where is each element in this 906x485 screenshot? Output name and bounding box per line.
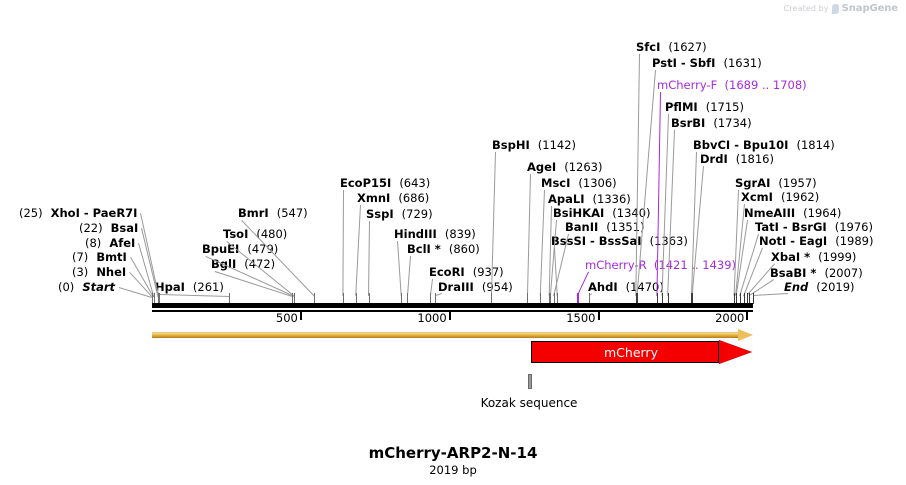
site-label-name: Start <box>82 280 115 294</box>
site-label-name: TsoI <box>223 227 248 241</box>
site-label-name: mCherry-R <box>585 258 647 272</box>
site-label-name: EcoP15I <box>340 176 391 190</box>
site-label-bmri[interactable]: BmrI (547) <box>238 207 308 219</box>
site-label-position: (1351) <box>606 220 644 234</box>
site-label-name: BclI * <box>407 242 441 256</box>
site-label-bmti[interactable]: (7) BmtI <box>72 251 127 263</box>
sequence-length: 2019 bp <box>429 463 477 477</box>
leader-line <box>342 190 344 296</box>
site-label-position: (1340) <box>612 206 650 220</box>
snapgene-brand: SnapGene <box>842 3 898 14</box>
site-label-name: NotI - EagI <box>759 234 827 248</box>
site-label-name: AfeI <box>109 236 135 250</box>
site-label-draiii[interactable]: DraIII (954) <box>438 281 513 293</box>
site-label-tati-bsrgi[interactable]: TatI - BsrGI (1976) <box>755 221 873 233</box>
site-label-psti-sbfi[interactable]: PstI - SbfI (1631) <box>652 57 762 69</box>
site-label-position: (1263) <box>564 160 602 174</box>
site-label-name: BmrI <box>238 206 269 220</box>
site-label-position: (25) <box>19 206 43 220</box>
site-label-position: (1306) <box>578 176 616 190</box>
site-label-bsssi-bsssai[interactable]: BssSI - BssSaI (1363) <box>551 235 688 247</box>
site-label-name: BsrBI <box>671 116 705 130</box>
page-title: mCherry-ARP2-N-14 <box>369 444 538 462</box>
feature-mcherry-label: mCherry <box>531 341 731 363</box>
snapgene-attribution: Created by SnapGene <box>784 3 898 14</box>
orf-arrow-body <box>152 332 740 338</box>
site-label-end[interactable]: End (2019) <box>784 281 855 293</box>
site-label-name: AhdI <box>588 280 618 294</box>
site-label-position: (729) <box>402 207 433 221</box>
site-label-position: (1734) <box>713 116 751 130</box>
leader-line <box>160 294 230 297</box>
ruler-label-1000: 1000 <box>417 311 448 325</box>
site-label-position: (1715) <box>706 100 744 114</box>
site-label-xmni[interactable]: XmnI (686) <box>357 192 429 204</box>
orf-arrow <box>152 331 753 340</box>
site-label-drdi[interactable]: DrdI (1816) <box>700 153 774 165</box>
site-label-name: NheI <box>96 265 126 279</box>
site-label-position: (22) <box>79 221 103 235</box>
leader-line <box>407 256 411 296</box>
site-label-hindiii[interactable]: HindIII (839) <box>394 228 476 240</box>
site-label-position: (1816) <box>736 152 774 166</box>
site-label-bcli-[interactable]: BclI * (860) <box>407 243 480 255</box>
site-label-name: DrdI <box>700 152 728 166</box>
site-label-position: (839) <box>445 227 476 241</box>
site-label-name: HindIII <box>394 227 437 241</box>
site-label-nhei[interactable]: (3) NheI <box>72 266 126 278</box>
site-label-name: NmeAIII <box>744 206 795 220</box>
ruler-label-1500: 1500 <box>566 311 597 325</box>
leader-line <box>753 293 788 296</box>
site-label-name: SfcI <box>636 40 660 54</box>
site-label-position: (1957) <box>778 176 816 190</box>
site-label-apali[interactable]: ApaLI (1336) <box>548 193 631 205</box>
site-label-sspi[interactable]: SspI (729) <box>366 208 433 220</box>
site-label-position: (1470) <box>626 280 664 294</box>
feature-kozak-marker[interactable] <box>528 374 532 389</box>
site-label-mcherry-f[interactable]: mCherry-F (1689 .. 1708) <box>657 79 807 91</box>
site-label-name: MscI <box>541 176 570 190</box>
site-label-nmeaiii[interactable]: NmeAIII (1964) <box>744 207 841 219</box>
leader-line <box>540 190 545 296</box>
leader-line <box>355 205 361 296</box>
site-label-hpai[interactable]: HpaI (261) <box>155 281 224 293</box>
ruler-tick-1000 <box>449 311 451 320</box>
site-label-name: End <box>784 280 808 294</box>
site-label-sgrai[interactable]: SgrAI (1957) <box>735 177 817 189</box>
snapgene-logo-icon <box>831 4 838 14</box>
site-label-name: BsiHKAI <box>553 206 604 220</box>
site-label-xcmi[interactable]: XcmI (1962) <box>741 191 819 203</box>
site-label-position: (860) <box>449 242 480 256</box>
site-label-position: (686) <box>398 191 429 205</box>
ruler-tick-500 <box>300 311 302 320</box>
site-label-name: BbvCI - Bpu10I <box>693 138 788 152</box>
site-label-name: PflMI <box>665 100 698 114</box>
site-label-name: SspI <box>366 207 394 221</box>
site-label-mcherry-r[interactable]: mCherry-R (1421 .. 1439) <box>585 259 736 271</box>
site-label-position: (1964) <box>803 206 841 220</box>
site-label-position: (1999) <box>818 250 856 264</box>
site-label-position: (1336) <box>593 192 631 206</box>
site-label-position: (261) <box>193 280 224 294</box>
site-label-pflmi[interactable]: PflMI (1715) <box>665 101 744 113</box>
site-label-name: TatI - BsrGI <box>755 220 827 234</box>
site-label-xhoi-paer7i[interactable]: (25) XhoI - PaeR7I <box>19 207 137 219</box>
ruler-tick-1500 <box>598 311 600 320</box>
site-label-position: (1814) <box>796 138 834 152</box>
site-label-position: (0) <box>58 280 74 294</box>
site-label-position: (8) <box>85 236 101 250</box>
site-label-position: (2019) <box>816 280 854 294</box>
site-label-name: ApaLI <box>548 192 585 206</box>
attribution-prefix: Created by <box>784 4 829 13</box>
site-label-bsai[interactable]: (22) BsaI <box>79 222 138 234</box>
site-label-position: (1689 .. 1708) <box>725 78 807 92</box>
site-label-name: EcoRI <box>429 265 465 279</box>
site-label-name: BsaI <box>111 221 139 235</box>
leader-line <box>527 174 531 296</box>
site-label-name: DraIII <box>438 280 474 294</box>
site-label-position: (1627) <box>668 40 706 54</box>
site-label-noti-eagi[interactable]: NotI - EagI (1989) <box>759 235 873 247</box>
site-label-name: XhoI - PaeR7I <box>51 206 138 220</box>
site-label-position: (1976) <box>835 220 873 234</box>
site-label-name: AgeI <box>527 160 556 174</box>
site-label-name: XbaI * <box>771 250 810 264</box>
site-label-name: BmtI <box>96 250 127 264</box>
site-label-name: PstI - SbfI <box>652 56 715 70</box>
site-label-name: BsaBI * <box>770 266 816 280</box>
site-label-position: (1142) <box>538 138 576 152</box>
feature-mcherry[interactable]: mCherry <box>531 341 752 363</box>
leader-line <box>436 293 442 296</box>
site-label-position: (1989) <box>835 234 873 248</box>
site-label-position: (7) <box>72 250 88 264</box>
site-label-name: BpuEI <box>202 242 239 256</box>
site-label-position: (954) <box>482 280 513 294</box>
sequence-backbone-shadow <box>152 310 753 312</box>
site-label-xbai-[interactable]: XbaI * (1999) <box>771 251 856 263</box>
site-label-position: (547) <box>277 206 308 220</box>
site-label-name: BspHI <box>492 138 530 152</box>
site-label-name: BanII <box>565 220 598 234</box>
site-label-msci[interactable]: MscI (1306) <box>541 177 617 189</box>
sequence-map-canvas: Created by SnapGene HpaI (261)BglI (472)… <box>0 0 906 485</box>
site-label-start[interactable]: (0) Start <box>58 281 115 293</box>
sequence-backbone <box>152 303 753 308</box>
site-label-afei[interactable]: (8) AfeI <box>85 237 135 249</box>
site-label-position: (937) <box>473 265 504 279</box>
ruler-tick-2000 <box>746 311 748 320</box>
site-label-name: mCherry-F <box>657 78 717 92</box>
site-label-name: XmnI <box>357 191 390 205</box>
site-label-position: (3) <box>72 265 88 279</box>
site-label-ahdi[interactable]: AhdI (1470) <box>588 281 664 293</box>
site-label-position: (1631) <box>723 56 761 70</box>
site-label-bbvci-bpu10i[interactable]: BbvCI - Bpu10I (1814) <box>693 139 835 151</box>
ruler-label-500: 500 <box>276 311 300 325</box>
site-label-name: XcmI <box>741 190 773 204</box>
site-label-position: (2007) <box>824 266 862 280</box>
site-label-ecop15i[interactable]: EcoP15I (643) <box>340 177 430 189</box>
site-label-banii[interactable]: BanII (1351) <box>565 221 645 233</box>
leader-line <box>368 221 370 296</box>
leader-line <box>397 241 402 296</box>
site-label-agei[interactable]: AgeI (1263) <box>527 161 602 173</box>
site-label-bsabi-[interactable]: BsaBI * (2007) <box>770 267 863 279</box>
site-label-position: (1962) <box>781 190 819 204</box>
feature-kozak-label: Kozak sequence <box>481 396 578 410</box>
site-label-position: (643) <box>399 176 430 190</box>
site-label-bsrbi[interactable]: BsrBI (1734) <box>671 117 752 129</box>
site-label-name: HpaI <box>155 280 185 294</box>
site-label-name: SgrAI <box>735 176 770 190</box>
ruler-label-2000: 2000 <box>715 311 746 325</box>
site-label-sfci[interactable]: SfcI (1627) <box>636 41 707 53</box>
site-label-bsphi[interactable]: BspHI (1142) <box>492 139 576 151</box>
